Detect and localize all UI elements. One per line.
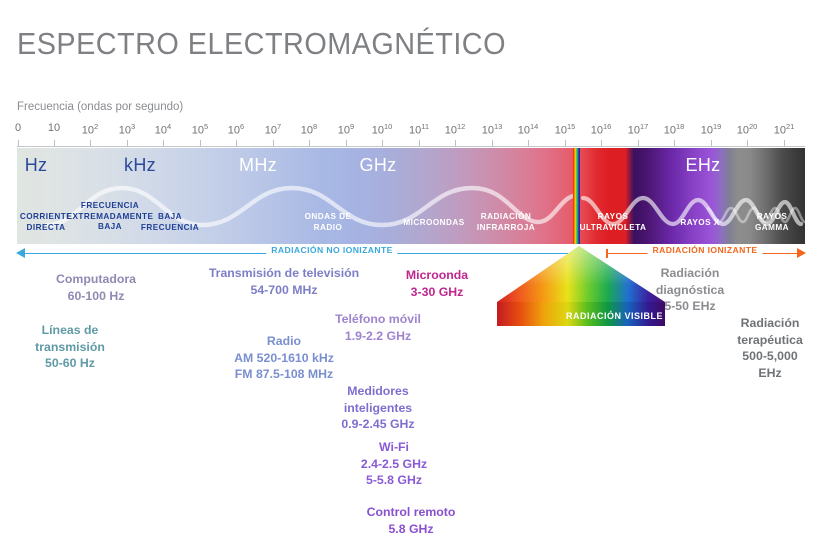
annotation-lineas-transmision: Líneas de transmisión 50-60 Hz — [35, 322, 105, 372]
axis-tick-mark — [346, 140, 347, 147]
ionizing-arrowhead — [797, 248, 806, 258]
spectrum-band-label: RADIACIÓN INFRARROJA — [477, 212, 535, 233]
axis-tick-label: 10 — [48, 122, 60, 134]
axis-tick-mark — [565, 140, 566, 147]
axis-tick-label: 1016 — [591, 122, 612, 137]
axis-tick-mark — [163, 140, 164, 147]
axis-tick-label: 107 — [265, 122, 281, 137]
axis-tick-label: 109 — [338, 122, 354, 137]
axis-line — [17, 146, 805, 147]
annotation-radio: Radio AM 520-1610 kHz FM 87.5-108 MHz — [234, 333, 334, 383]
radiation-arrows: RADIACIÓN NO IONIZANTE RADIACIÓN IONIZAN… — [0, 244, 820, 264]
axis-tick-label: 1011 — [409, 122, 429, 137]
annotation-radiacion-terapeutica: Radiación terapéutica 500-5,000 EHz — [737, 315, 803, 381]
page-title: ESPECTRO ELECTROMAGNÉTICO — [17, 26, 506, 62]
axis-tick-label: 0 — [15, 122, 21, 134]
axis-tick-label: 1010 — [372, 122, 393, 137]
axis-tick-mark — [711, 140, 712, 147]
annotation-medidores-inteligentes: Medidores inteligentes 0.9-2.45 GHz — [341, 383, 414, 433]
axis-tick-label: 105 — [192, 122, 208, 137]
spectrum-unit-hz: Hz — [25, 155, 48, 176]
axis-tick-mark — [127, 140, 128, 147]
axis-tick-label: 102 — [82, 122, 98, 137]
axis-tick-mark — [273, 140, 274, 147]
axis-tick-mark — [18, 140, 19, 147]
annotation-microonda: Microonda 3-30 GHz — [406, 267, 468, 300]
axis-tick-label: 1020 — [737, 122, 758, 137]
axis-tick-label: 106 — [228, 122, 244, 137]
axis-tick-label: 1017 — [628, 122, 649, 137]
axis-tick-mark — [638, 140, 639, 147]
spectrum-unit-mhz: MHz — [239, 155, 277, 176]
axis-tick-label: 1013 — [482, 122, 503, 137]
spectrum-unit-ghz: GHz — [360, 155, 397, 176]
axis-tick-mark — [455, 140, 456, 147]
axis-tick-label: 1015 — [555, 122, 576, 137]
spectrum-unit-ehz: EHz — [686, 155, 721, 176]
axis-tick-mark — [382, 140, 383, 147]
axis-tick-mark — [54, 140, 55, 147]
axis-tick-labels: 0101021031041051061071081091010101110121… — [0, 122, 820, 138]
non-ionizing-label: RADIACIÓN NO IONIZANTE — [266, 245, 397, 255]
spectrum-band-label: MICROONDAS — [403, 218, 464, 229]
annotation-telefono-movil: Teléfono móvil 1.9-2.2 GHz — [335, 311, 421, 344]
spectrum-band-label: RAYOS X — [680, 218, 719, 229]
axis-tick-label: 103 — [119, 122, 135, 137]
annotation-computadora: Computadora 60-100 Hz — [56, 271, 136, 304]
axis-tick-label: 1012 — [445, 122, 466, 137]
infographic-canvas: ESPECTRO ELECTROMAGNÉTICO Frecuencia (on… — [0, 0, 820, 555]
axis-tick-mark — [784, 140, 785, 147]
axis-tick-mark — [309, 140, 310, 147]
spectrum-unit-khz: kHz — [124, 155, 156, 176]
spectrum-band-label: BAJA FRECUENCIA — [141, 212, 199, 233]
annotation-radiacion-diagnostica: Radiación diagnóstica 5-50 EHz — [625, 265, 755, 315]
axis-tick-mark — [236, 140, 237, 147]
annotation-control-remoto: Control remoto 5.8 GHz — [367, 504, 456, 537]
annotation-transmision-television: Transmisión de televisión 54-700 MHz — [209, 265, 359, 298]
axis-tick-label: 104 — [155, 122, 171, 137]
axis-tick-mark — [528, 140, 529, 147]
axis-caption: Frecuencia (ondas por segundo) — [17, 101, 183, 113]
axis-tick-mark — [90, 140, 91, 147]
axis-tick-label: 1019 — [701, 122, 722, 137]
axis-tick-mark — [674, 140, 675, 147]
spectrum-band-label: RAYOS GAMMA — [755, 212, 789, 233]
axis-tick-mark — [419, 140, 420, 147]
axis-tick-mark — [601, 140, 602, 147]
axis-tick-mark — [492, 140, 493, 147]
axis-tick-label: 1014 — [518, 122, 539, 137]
non-ionizing-arrowhead — [16, 248, 25, 258]
axis-tick-mark — [747, 140, 748, 147]
axis-tick-mark — [200, 140, 201, 147]
axis-tick-label: 1021 — [774, 122, 795, 137]
axis-tick-label: 1018 — [664, 122, 685, 137]
spectrum-band-label: CORRIENTE DIRECTA — [20, 212, 72, 233]
axis-tick-label: 108 — [301, 122, 317, 137]
spectrum-band-label: ONDAS DE RADIO — [305, 212, 352, 233]
annotation-wifi: Wi-Fi 2.4-2.5 GHz 5-5.8 GHz — [361, 439, 427, 489]
spectrum-band-label: RAYOS ULTRAVIOLETA — [580, 212, 647, 233]
